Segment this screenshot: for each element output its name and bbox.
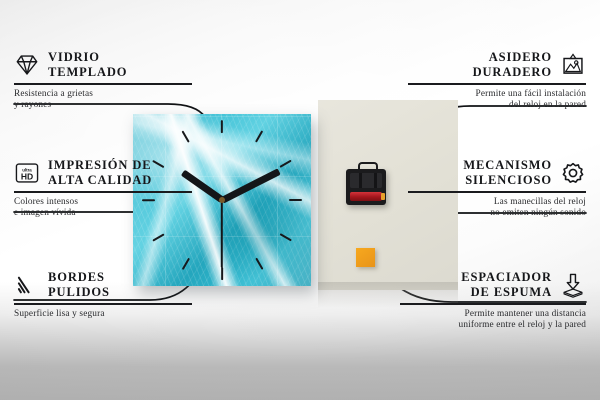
battery-terminal [381,193,385,200]
feature-title-line1: BORDES [48,270,110,285]
feature-subtitle-line1: Permite mantener una distancia [400,309,586,321]
feature-divider [400,303,586,305]
feature-subtitle-line2: y rayones [14,100,192,112]
feature-subtitle-line1: Permite una fácil instalación [408,89,586,101]
feature-subtitle-line1: Superficie lisa y segura [14,309,192,321]
feature-vidrio-templado: VIDRIO TEMPLADO Resistencia a grietas y … [14,50,192,112]
polished-edges-icon [14,272,40,298]
feature-title-line1: IMPRESIÓN DE [48,158,152,173]
feature-impresion-alta-calidad: ultra HD IMPRESIÓN DE ALTA CALIDAD Color… [14,158,192,220]
feature-title-line2: DURADERO [473,65,552,80]
clock-mechanism [346,169,386,205]
diamond-icon [14,52,40,78]
feature-title-line2: SILENCIOSO [463,173,552,188]
feature-divider [408,83,586,85]
hour-mark [221,267,223,280]
feature-espaciador-de-espuma: ESPACIADOR DE ESPUMA Permite mantener un… [400,270,586,332]
feature-asidero-duradero: ASIDERO DURADERO Permite una fácil insta… [408,50,586,112]
ultra-hd-icon: ultra HD [14,160,40,186]
feature-subtitle-line2: e imagen vívida [14,208,192,220]
gear-icon [560,160,586,186]
feature-subtitle-line2: uniforme entre el reloj y la pared [400,320,586,332]
feature-divider [14,83,192,85]
foam-spacer [356,248,375,267]
mechanism-hanger [358,162,378,173]
feature-title-line1: ASIDERO [473,50,552,65]
feature-divider [14,303,192,305]
feature-title-line2: TEMPLADO [48,65,127,80]
feature-title-line2: PULIDOS [48,285,110,300]
feature-subtitle-line2: del reloj en la pared [408,100,586,112]
infographic-canvas: VIDRIO TEMPLADO Resistencia a grietas y … [0,0,600,400]
clock-center-hub [219,197,225,203]
feature-subtitle-line1: Colores intensos [14,197,192,209]
feature-subtitle-line1: Las manecillas del reloj [408,197,586,209]
second-hand [221,200,223,268]
feature-divider [408,191,586,193]
hour-mark [221,120,223,133]
svg-text:HD: HD [21,171,33,181]
feature-title-line1: VIDRIO [48,50,127,65]
press-down-pad-icon [560,272,586,298]
feature-mecanismo-silencioso: MECANISMO SILENCIOSO Las manecillas del … [408,158,586,220]
feature-title-line2: ALTA CALIDAD [48,173,152,188]
feature-subtitle-line1: Resistencia a grietas [14,89,192,101]
picture-frame-hook-icon [560,52,586,78]
feature-title-line2: DE ESPUMA [461,285,552,300]
battery [350,192,382,201]
feature-bordes-pulidos: BORDES PULIDOS Superficie lisa y segura [14,270,192,320]
feature-title-line1: MECANISMO [463,158,552,173]
feature-title-line1: ESPACIADOR [461,270,552,285]
hour-mark [289,199,302,201]
mechanism-housing [350,173,382,188]
feature-subtitle-line2: no emiten ningún sonido [408,208,586,220]
feature-divider [14,191,192,193]
